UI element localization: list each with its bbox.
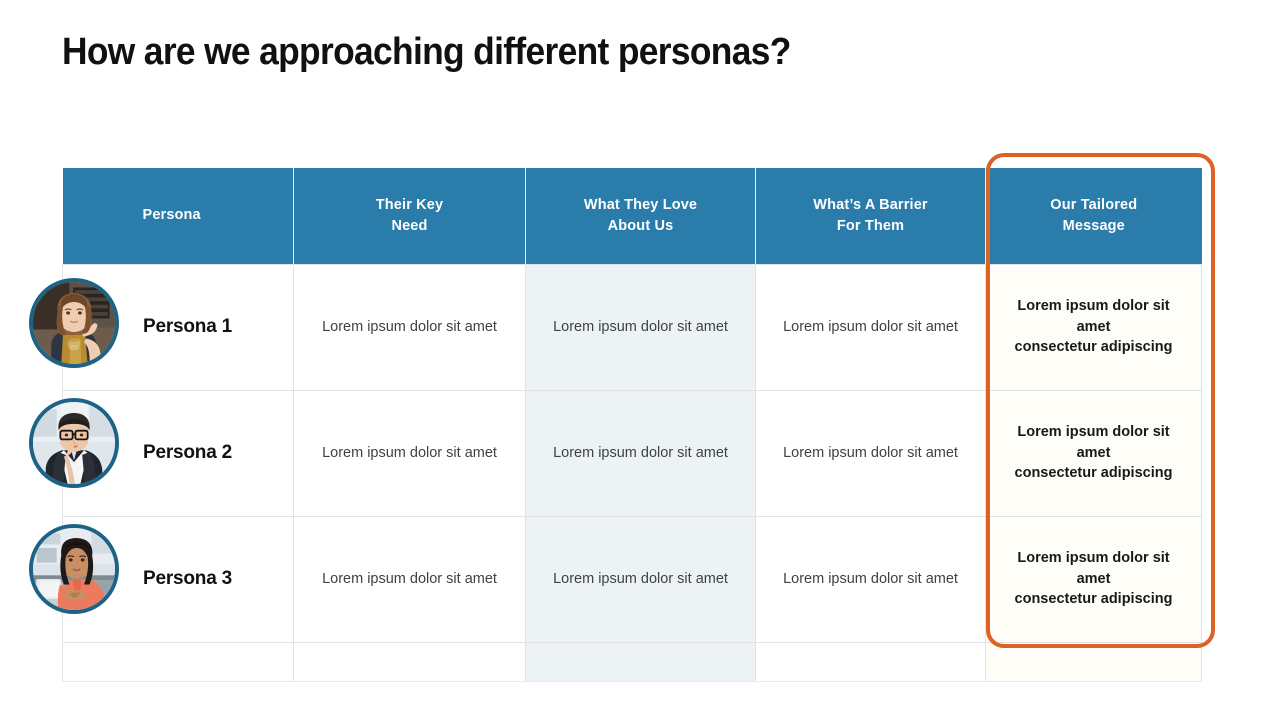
cell-love-3: Lorem ipsum dolor sit amet (526, 516, 756, 642)
persona-label: Persona 3 (143, 568, 232, 589)
cell-barrier-3: Lorem ipsum dolor sit amet (756, 516, 986, 642)
column-header-persona[interactable]: Persona (63, 168, 294, 264)
table-row[interactable]: Persona 2 Lorem ipsum dolor sit amet Lor… (63, 390, 1202, 516)
column-header-persona-label: Persona (143, 207, 201, 223)
column-header-tailored-message-line1: Our Tailored (1050, 197, 1137, 213)
avatar-persona-1 (29, 278, 119, 368)
column-header-key-need[interactable]: Their Key Need (294, 168, 526, 264)
page-title: How are we approaching different persona… (62, 31, 1085, 74)
column-header-barrier[interactable]: What’s A Barrier For Them (756, 168, 986, 264)
spacer-cell-4 (756, 642, 986, 681)
cell-message-2: Lorem ipsum dolor sit amet consectetur a… (986, 390, 1202, 516)
spacer-cell-1 (63, 642, 294, 681)
cell-message-3-line1: Lorem ipsum dolor sit amet (1017, 550, 1169, 587)
cell-message-2-line1: Lorem ipsum dolor sit amet (1017, 424, 1169, 461)
table-row[interactable]: Persona 3 Lorem ipsum dolor sit amet Lor… (63, 516, 1202, 642)
column-header-key-need-line1: Their Key (376, 197, 443, 213)
persona-label: Persona 2 (143, 442, 232, 463)
cell-need-1: Lorem ipsum dolor sit amet (294, 264, 526, 390)
cell-message-1-line2: consectetur adipiscing (1015, 339, 1173, 355)
cell-barrier-1: Lorem ipsum dolor sit amet (756, 264, 986, 390)
column-header-barrier-line1: What’s A Barrier (813, 197, 927, 213)
cell-need-3: Lorem ipsum dolor sit amet (294, 516, 526, 642)
column-header-barrier-line2: For Them (837, 218, 904, 234)
cell-message-1-line1: Lorem ipsum dolor sit amet (1017, 298, 1169, 335)
table-header-row: Persona Their Key Need What They Love Ab… (63, 168, 1202, 264)
spacer-cell-2 (294, 642, 526, 681)
cell-love-1: Lorem ipsum dolor sit amet (526, 264, 756, 390)
column-header-what-they-love-line2: About Us (608, 218, 674, 234)
avatar-persona-3 (29, 524, 119, 614)
persona-label: Persona 1 (143, 316, 232, 337)
column-header-what-they-love[interactable]: What They Love About Us (526, 168, 756, 264)
table-header: Persona Their Key Need What They Love Ab… (63, 168, 1202, 264)
persona-comparison-table: Persona Their Key Need What They Love Ab… (62, 168, 1202, 682)
table-body: Persona 1 Lorem ipsum dolor sit amet Lor… (63, 264, 1202, 681)
cell-love-2: Lorem ipsum dolor sit amet (526, 390, 756, 516)
cell-barrier-2: Lorem ipsum dolor sit amet (756, 390, 986, 516)
cell-message-2-line2: consectetur adipiscing (1015, 465, 1173, 481)
spacer-cell-3 (526, 642, 756, 681)
column-header-tailored-message[interactable]: Our Tailored Message (986, 168, 1202, 264)
cell-message-1: Lorem ipsum dolor sit amet consectetur a… (986, 264, 1202, 390)
column-header-tailored-message-line2: Message (1063, 218, 1125, 234)
table-footer-spacer-row (63, 642, 1202, 681)
table-row[interactable]: Persona 1 Lorem ipsum dolor sit amet Lor… (63, 264, 1202, 390)
cell-message-3: Lorem ipsum dolor sit amet consectetur a… (986, 516, 1202, 642)
spacer-cell-5 (986, 642, 1202, 681)
column-header-what-they-love-line1: What They Love (584, 197, 697, 213)
avatar-persona-2 (29, 398, 119, 488)
slide-canvas: How are we approaching different persona… (0, 0, 1280, 720)
cell-message-3-line2: consectetur adipiscing (1015, 591, 1173, 607)
column-header-key-need-line2: Need (391, 218, 427, 234)
cell-need-2: Lorem ipsum dolor sit amet (294, 390, 526, 516)
